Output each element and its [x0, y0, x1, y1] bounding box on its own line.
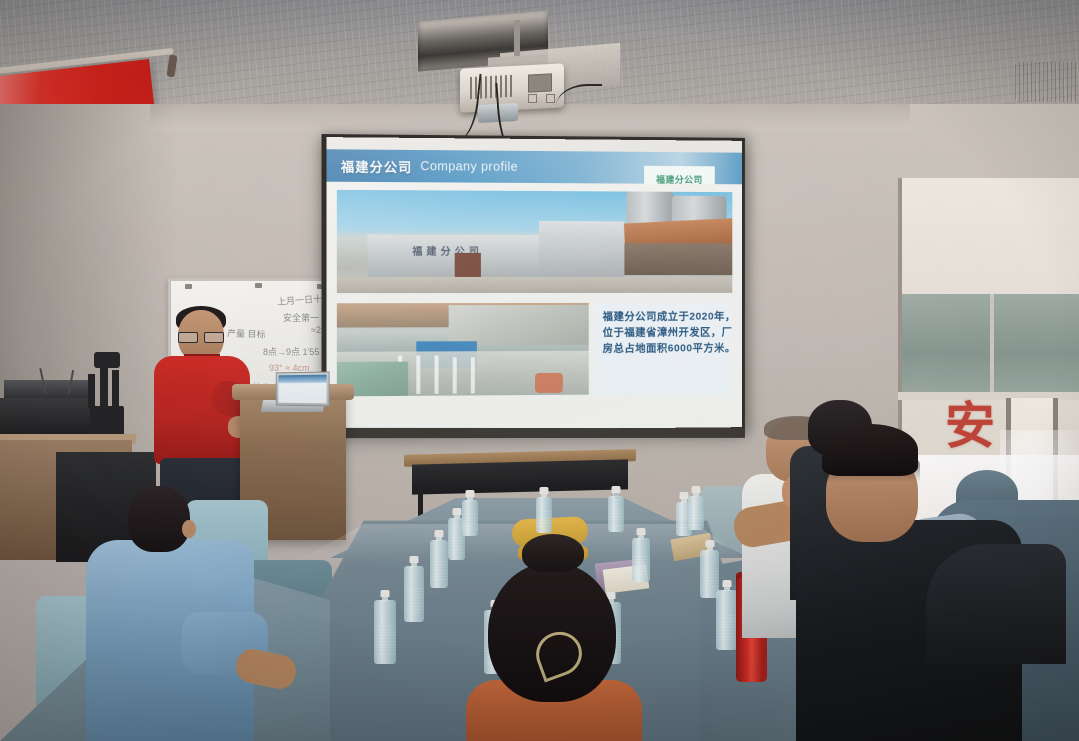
bottle-body [462, 500, 478, 536]
bottle-body [536, 497, 552, 533]
bottle-label [688, 510, 704, 525]
bottle-body [688, 496, 704, 530]
bottle-body [608, 496, 624, 532]
attendee-black-polo-shoulder [926, 544, 1066, 664]
water-bottle[interactable] [404, 556, 424, 622]
bottle-label [374, 626, 396, 654]
water-bottle[interactable] [374, 590, 396, 664]
attendee-black-polo [806, 424, 1056, 741]
attendee-left [86, 486, 276, 741]
attendee-foreground-woman [440, 540, 660, 741]
water-bottle[interactable] [462, 490, 478, 536]
bottle-label [536, 511, 552, 527]
attendee-black-polo-hairline [822, 424, 918, 476]
water-bottle[interactable] [608, 486, 624, 532]
bottle-label [404, 588, 424, 613]
bottle-body [374, 600, 396, 664]
bottle-body [404, 566, 424, 622]
attendee-left-head [128, 486, 190, 552]
attendee-left-ear [182, 520, 196, 538]
meeting-room-photo: 技能竞赛 安 上月一日十分 安全第一 产量 目标 8点→9点 1'55 220 … [0, 0, 1079, 741]
bottle-body [716, 590, 737, 650]
bottle-label [608, 510, 624, 526]
attendee-woman-hair-bun [522, 534, 584, 572]
water-bottle[interactable] [716, 580, 737, 650]
water-bottle[interactable] [688, 486, 704, 530]
bottle-label [716, 614, 737, 640]
bottle-label [462, 514, 478, 530]
water-bottle[interactable] [536, 487, 552, 533]
